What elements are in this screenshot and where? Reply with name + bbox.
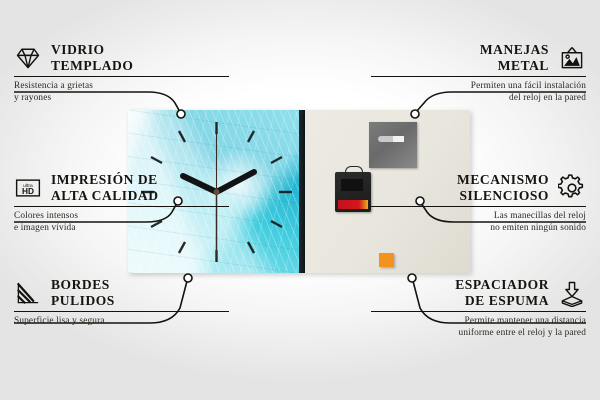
- callout-title: VIDRIO TEMPLADO: [51, 42, 133, 73]
- title-line-2: TEMPLADO: [51, 58, 133, 74]
- title-line-2: ALTA CALIDAD: [51, 188, 159, 204]
- callout-description: Permiten una fácil instalación del reloj…: [371, 81, 586, 104]
- mechanism-red-label: [338, 200, 368, 209]
- desc-line-2: uniforme entre el reloj y la pared: [371, 328, 586, 340]
- callout-title: IMPRESIÓN DE ALTA CALIDAD: [51, 172, 159, 203]
- callout-mecanismo-silencioso: MECANISMO SILENCIOSO Las manecillas del …: [371, 172, 586, 235]
- foam-spacer-arrow-icon: [558, 279, 586, 307]
- callout-title: MECANISMO SILENCIOSO: [457, 172, 549, 203]
- title-line-1: BORDES: [51, 277, 115, 293]
- title-line-1: ESPACIADOR: [455, 277, 549, 293]
- desc-line-1: Superficie lisa y segura: [14, 316, 229, 328]
- callout-espaciador-espuma: ESPACIADOR DE ESPUMA Permite mantener un…: [371, 277, 586, 340]
- clock-mechanism-box: [335, 172, 371, 212]
- callout-head: MANEJAS METAL: [371, 42, 586, 73]
- callout-title: MANEJAS METAL: [480, 42, 549, 73]
- wall-hanger-frame-icon: [558, 44, 586, 72]
- title-line-2: SILENCIOSO: [457, 188, 549, 204]
- ultra-hd-icon: ultra HD: [14, 174, 42, 202]
- callout-vidrio-templado: VIDRIO TEMPLADO Resistencia a grietas y …: [14, 42, 229, 105]
- divider: [371, 206, 586, 207]
- callout-description: Permite mantener una distancia uniforme …: [371, 316, 586, 339]
- title-line-2: PULIDOS: [51, 293, 115, 309]
- callout-manejas-metal: MANEJAS METAL Permiten una fácil instala…: [371, 42, 586, 105]
- callout-head: BORDES PULIDOS: [14, 277, 229, 308]
- title-line-1: IMPRESIÓN DE: [51, 172, 159, 188]
- desc-line-2: y rayones: [14, 93, 229, 105]
- divider: [14, 206, 229, 207]
- title-line-2: DE ESPUMA: [455, 293, 549, 309]
- mechanism-hanger-loop: [345, 166, 363, 175]
- infographic-canvas: VIDRIO TEMPLADO Resistencia a grietas y …: [0, 0, 600, 400]
- mechanism-slot: [341, 179, 363, 191]
- gear-icon: [558, 174, 586, 202]
- divider: [14, 76, 229, 77]
- title-line-1: VIDRIO: [51, 42, 133, 58]
- divider: [14, 311, 229, 312]
- svg-text:HD: HD: [22, 186, 34, 196]
- callout-description: Colores intensos e imagen vívida: [14, 211, 229, 234]
- callout-head: ultra HD IMPRESIÓN DE ALTA CALIDAD: [14, 172, 229, 203]
- callout-head: MECANISMO SILENCIOSO: [371, 172, 586, 203]
- callout-description: Resistencia a grietas y rayones: [14, 81, 229, 104]
- callout-bordes-pulidos: BORDES PULIDOS Superficie lisa y segura: [14, 277, 229, 328]
- desc-line-1: Colores intensos: [14, 211, 229, 223]
- callout-head: VIDRIO TEMPLADO: [14, 42, 229, 73]
- desc-line-1: Las manecillas del reloj: [371, 211, 586, 223]
- orange-foam-spacer: [379, 253, 394, 267]
- callout-description: Superficie lisa y segura: [14, 316, 229, 328]
- desc-line-2: e imagen vívida: [14, 223, 229, 235]
- divider: [371, 76, 586, 77]
- desc-line-2: del reloj en la pared: [371, 93, 586, 105]
- metal-hanger-plate: [369, 122, 417, 168]
- callout-title: BORDES PULIDOS: [51, 277, 115, 308]
- callout-title: ESPACIADOR DE ESPUMA: [455, 277, 549, 308]
- callout-impresion-alta-calidad: ultra HD IMPRESIÓN DE ALTA CALIDAD Color…: [14, 172, 229, 235]
- desc-line-1: Resistencia a grietas: [14, 81, 229, 93]
- divider: [371, 311, 586, 312]
- title-line-1: MECANISMO: [457, 172, 549, 188]
- desc-line-2: no emiten ningún sonido: [371, 223, 586, 235]
- desc-line-1: Permite mantener una distancia: [371, 316, 586, 328]
- callout-head: ESPACIADOR DE ESPUMA: [371, 277, 586, 308]
- callout-description: Las manecillas del reloj no emiten ningú…: [371, 211, 586, 234]
- title-line-2: METAL: [480, 58, 549, 74]
- polished-edges-icon: [14, 279, 42, 307]
- title-line-1: MANEJAS: [480, 42, 549, 58]
- desc-line-1: Permiten una fácil instalación: [371, 81, 586, 93]
- hanger-slot: [378, 136, 404, 142]
- diamond-icon: [14, 44, 42, 72]
